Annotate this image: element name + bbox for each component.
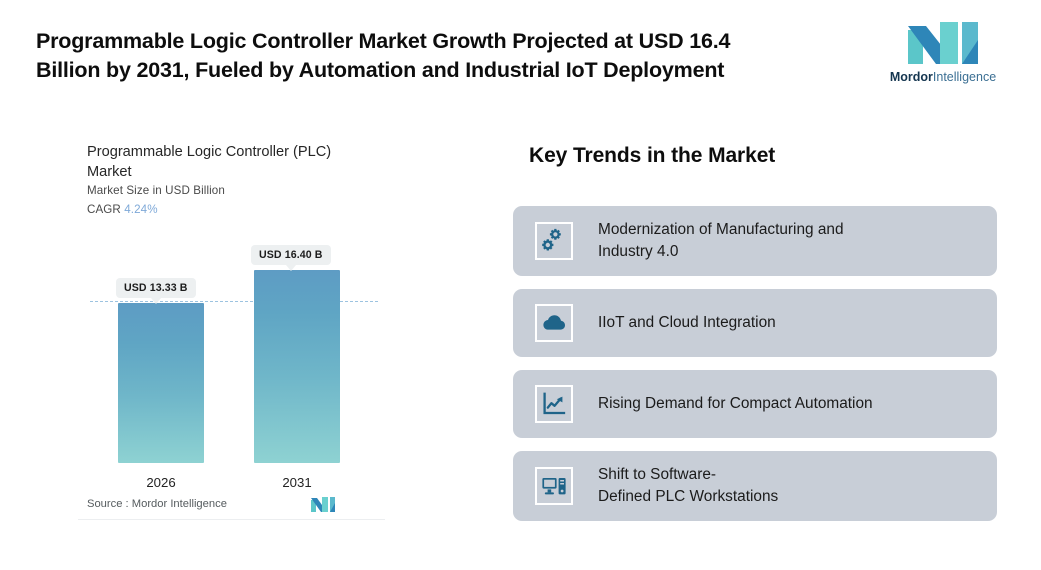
brand-logo: MordorIntelligence [880, 20, 1006, 92]
trends-list: Modernization of Manufacturing and Indus… [513, 206, 997, 534]
trend-card-label: IIoT and Cloud Integration [598, 312, 776, 334]
gears-icon [535, 222, 573, 260]
bar-2026 [118, 303, 204, 463]
trend-card-label: Rising Demand for Compact Automation [598, 393, 873, 415]
chart-source: Source : Mordor Intelligence [87, 498, 227, 510]
page-title: Programmable Logic Controller Market Gro… [36, 27, 866, 85]
bar-value-label-2026: USD 13.33 B [116, 278, 196, 298]
mordor-logo-mark-icon [906, 20, 980, 66]
header: Programmable Logic Controller Market Gro… [0, 0, 1041, 108]
cloud-icon [535, 304, 573, 342]
trend-card-label: Modernization of Manufacturing and Indus… [598, 219, 844, 263]
brand-name-secondary: Intelligence [933, 70, 996, 84]
x-axis-tick-2026: 2026 [118, 475, 204, 490]
x-axis-tick-2031: 2031 [254, 475, 340, 490]
brand-name: MordorIntelligence [880, 70, 1006, 84]
trend-card-modernization[interactable]: Modernization of Manufacturing and Indus… [513, 206, 997, 276]
chart-panel: Programmable Logic Controller (PLC) Mark… [78, 118, 385, 520]
bar-2031 [254, 270, 340, 463]
trend-card-software-defined-plc[interactable]: Shift to Software- Defined PLC Workstati… [513, 451, 997, 521]
trend-card-label: Shift to Software- Defined PLC Workstati… [598, 464, 778, 508]
brand-name-primary: Mordor [890, 70, 933, 84]
headline-line-2: Billion by 2031, Fueled by Automation an… [36, 56, 866, 85]
mordor-logo-mark-small-icon [310, 496, 336, 513]
trends-heading: Key Trends in the Market [529, 144, 775, 168]
trend-card-iiot-cloud[interactable]: IIoT and Cloud Integration [513, 289, 997, 357]
trend-chart-icon [535, 385, 573, 423]
bar-chart-plot: USD 13.33 B USD 16.40 B 2026 2031 [78, 118, 385, 520]
trend-card-compact-automation[interactable]: Rising Demand for Compact Automation [513, 370, 997, 438]
headline-line-1: Programmable Logic Controller Market Gro… [36, 27, 866, 56]
desktop-computer-icon [535, 467, 573, 505]
bar-value-label-2031: USD 16.40 B [251, 245, 331, 265]
poster-root: Programmable Logic Controller Market Gro… [0, 0, 1041, 570]
